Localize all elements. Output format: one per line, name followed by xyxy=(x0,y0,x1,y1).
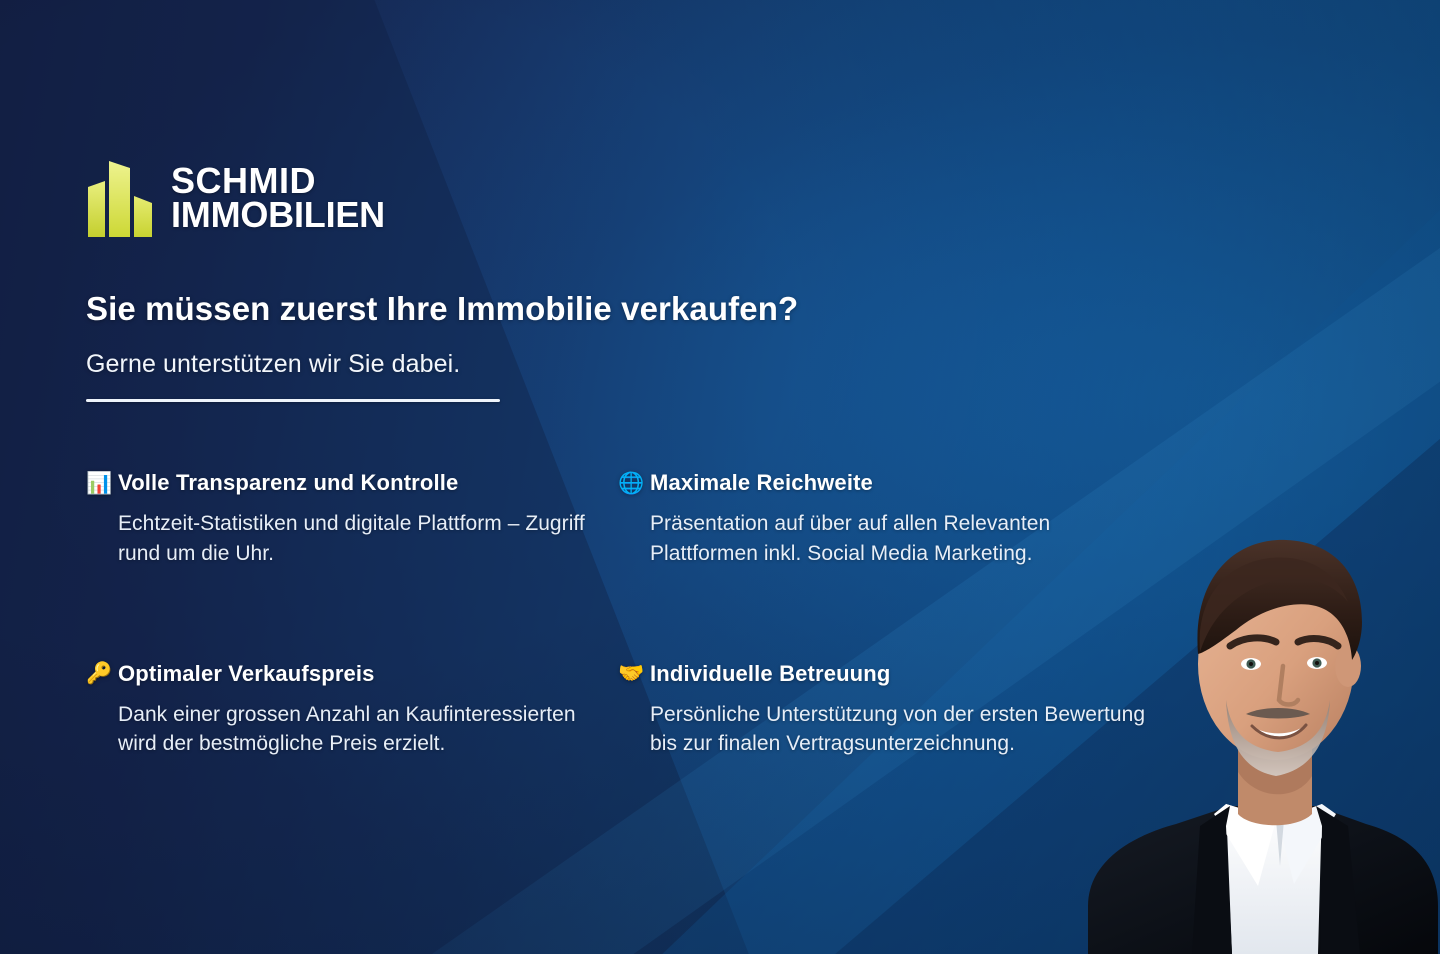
feature-item: 📊 Volle Transparenz und Kontrolle Echtze… xyxy=(86,470,618,569)
key-icon: 🔑 xyxy=(86,663,110,684)
feature-description: Dank einer grossen Anzahl an Kaufinteres… xyxy=(118,700,618,760)
building-logo-icon xyxy=(86,156,154,240)
feature-grid: 📊 Volle Transparenz und Kontrolle Echtze… xyxy=(86,470,1176,759)
feature-header: 🌐 Maximale Reichweite xyxy=(618,470,1178,496)
subheadline: Gerne unterstützen wir Sie dabei. xyxy=(86,350,460,379)
feature-item: 🌐 Maximale Reichweite Präsentation auf ü… xyxy=(618,470,1178,569)
feature-description: Persönliche Unterstützung von der ersten… xyxy=(650,700,1150,760)
feature-header: 🔑 Optimaler Verkaufspreis xyxy=(86,661,618,687)
content-layer: SCHMID IMMOBILIEN Sie müssen zuerst Ihre… xyxy=(0,0,1440,954)
brand-name: SCHMID IMMOBILIEN xyxy=(171,164,385,232)
headline: Sie müssen zuerst Ihre Immobilie verkauf… xyxy=(86,290,798,328)
brand-name-line2: IMMOBILIEN xyxy=(171,198,385,232)
feature-title: Volle Transparenz und Kontrolle xyxy=(118,470,458,496)
feature-header: 📊 Volle Transparenz und Kontrolle xyxy=(86,470,618,496)
promo-banner: SCHMID IMMOBILIEN Sie müssen zuerst Ihre… xyxy=(0,0,1440,954)
brand-logo[interactable]: SCHMID IMMOBILIEN xyxy=(86,156,385,240)
feature-item: 🤝 Individuelle Betreuung Persönliche Unt… xyxy=(618,661,1178,760)
bar-chart-icon: 📊 xyxy=(86,473,110,494)
feature-item: 🔑 Optimaler Verkaufspreis Dank einer gro… xyxy=(86,661,618,760)
globe-icon: 🌐 xyxy=(618,473,642,494)
feature-header: 🤝 Individuelle Betreuung xyxy=(618,661,1178,687)
divider xyxy=(86,399,500,402)
feature-description: Präsentation auf über auf allen Relevant… xyxy=(650,509,1150,569)
handshake-icon: 🤝 xyxy=(618,663,642,684)
feature-title: Optimaler Verkaufspreis xyxy=(118,661,375,687)
feature-title: Maximale Reichweite xyxy=(650,470,873,496)
brand-name-line1: SCHMID xyxy=(171,164,385,198)
feature-description: Echtzeit-Statistiken und digitale Plattf… xyxy=(118,509,618,569)
feature-title: Individuelle Betreuung xyxy=(650,661,890,687)
